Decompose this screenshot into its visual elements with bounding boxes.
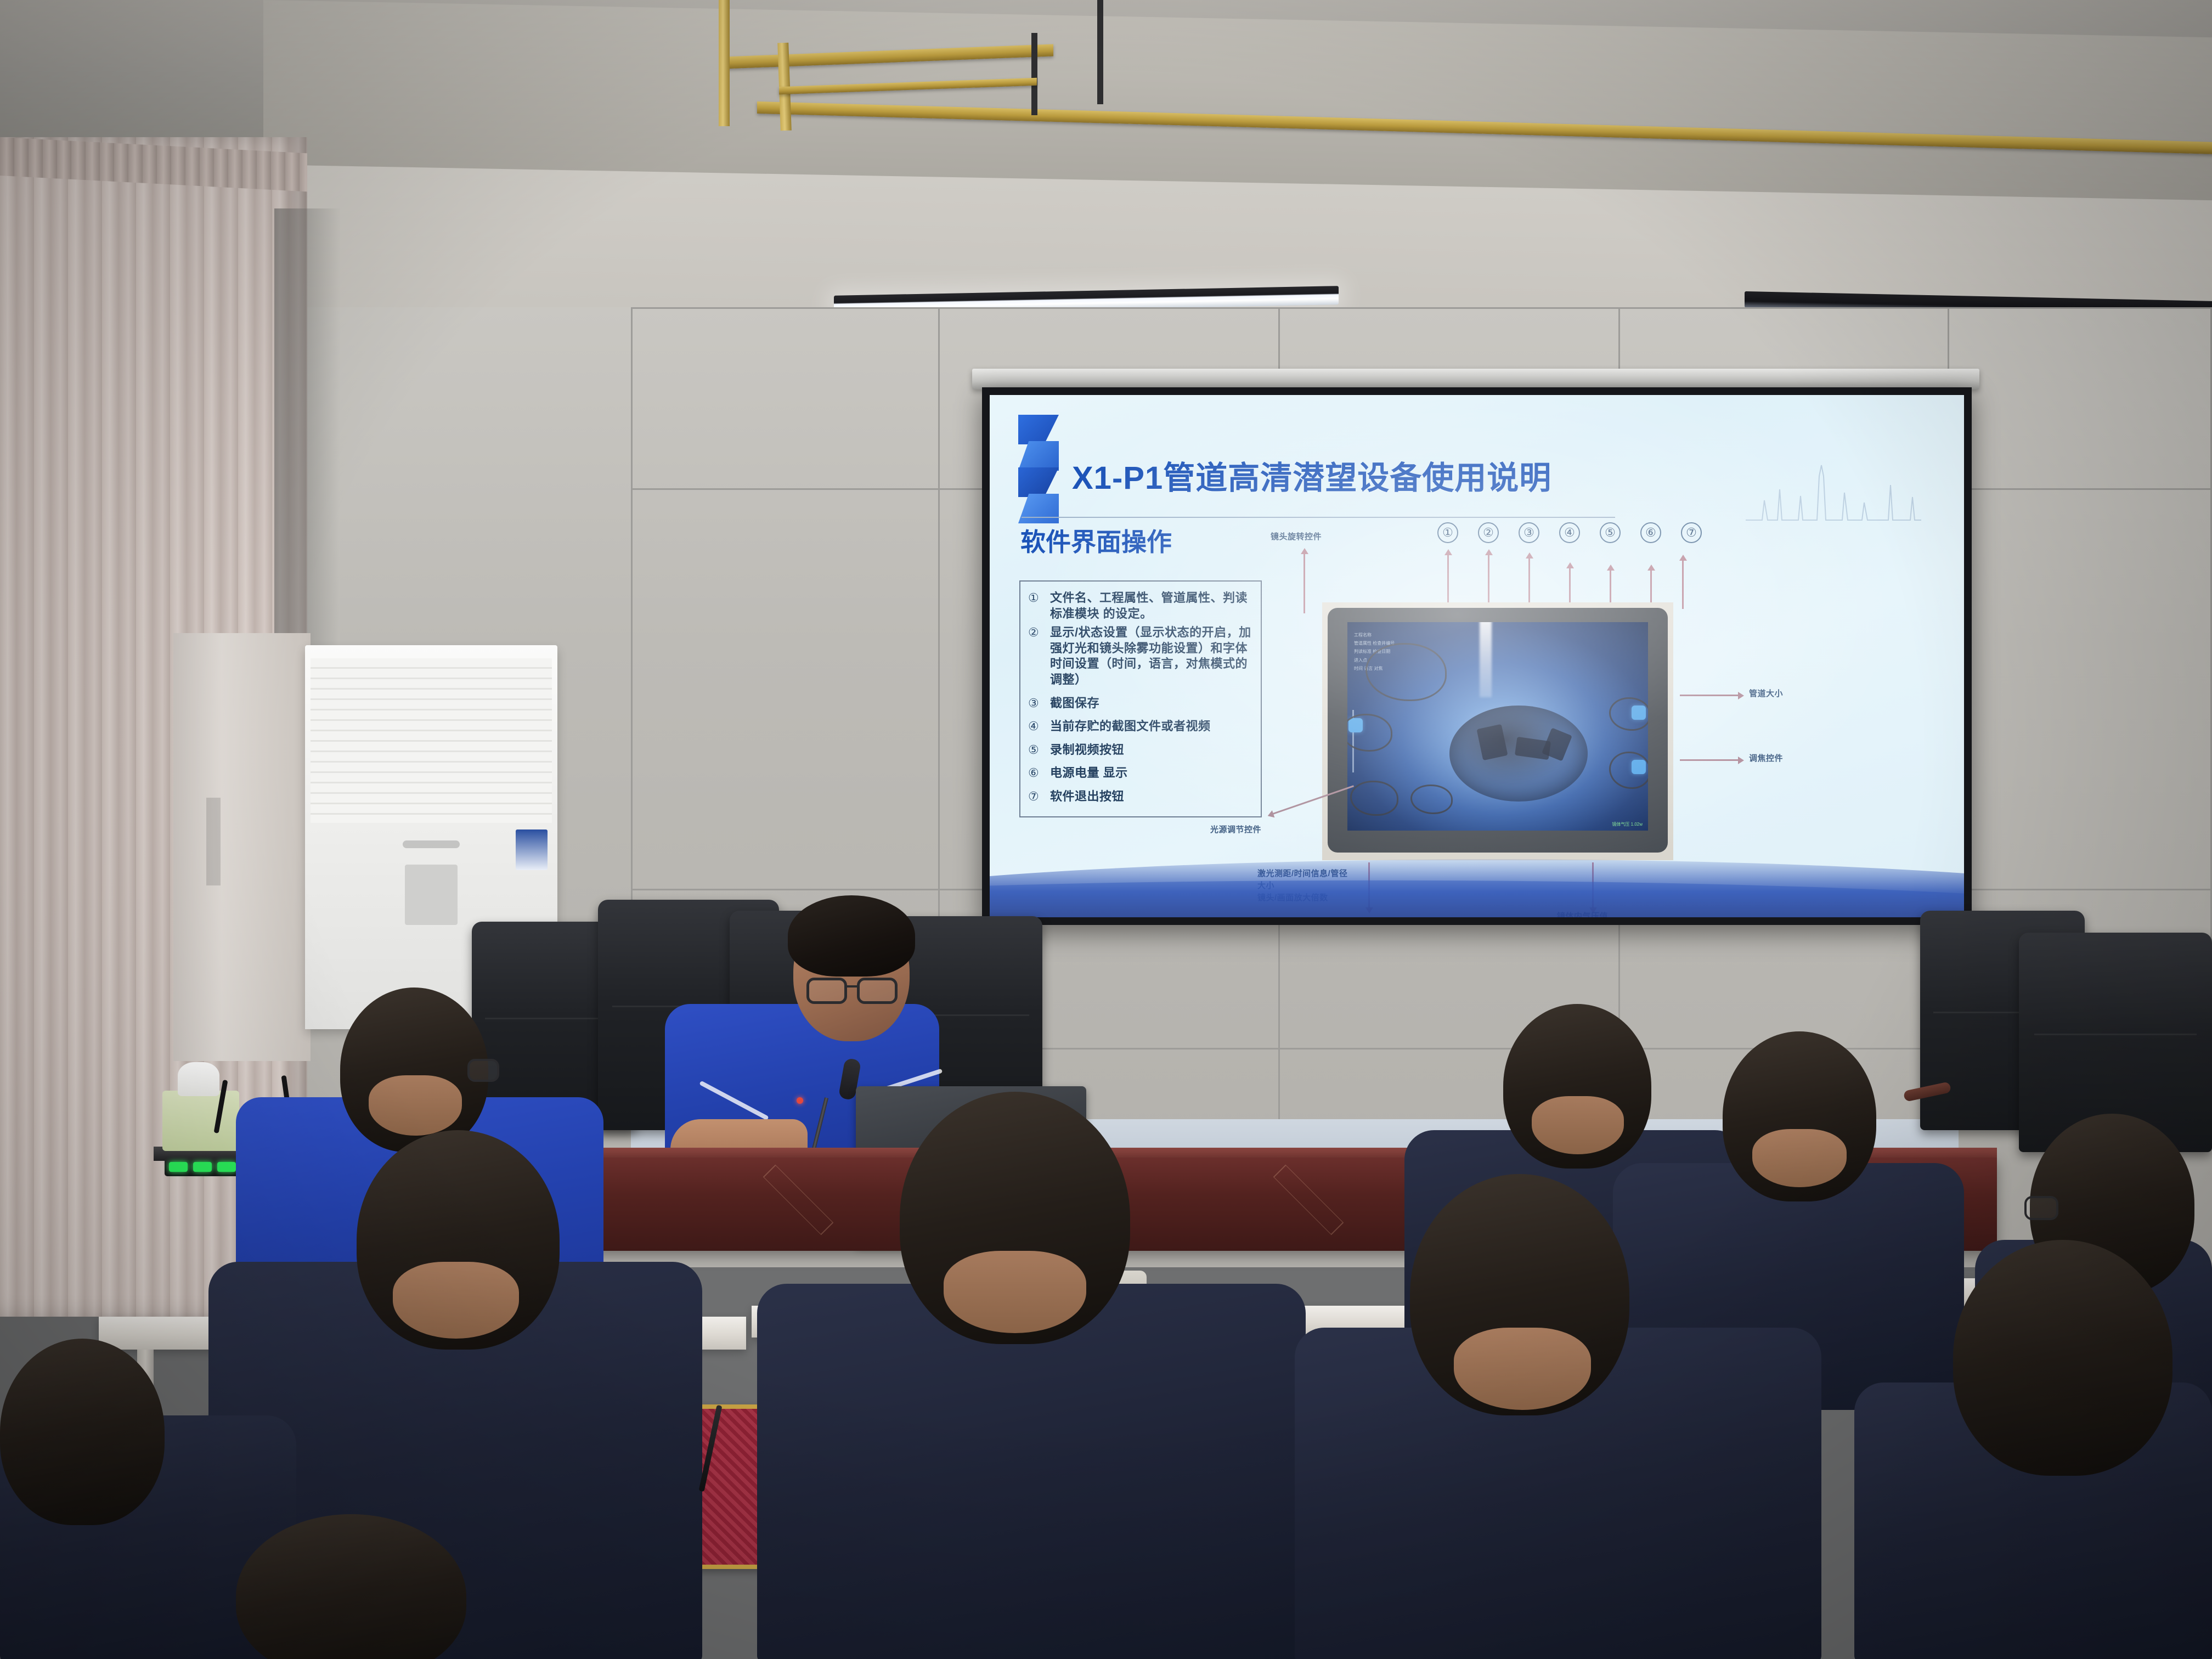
marker-7: ⑦ [1681,522,1702,543]
list-item-number: ① [1028,590,1050,622]
slide-title-divider [1022,517,1615,518]
callout-lens-rotate: 镜头旋转控件 [1271,531,1322,543]
callout-focus-control: 调焦控件 [1749,753,1783,765]
audience-head [1953,1240,2172,1476]
glasses-icon [806,978,847,1004]
list-item: ⑤ 录制视频按钮 [1028,742,1253,758]
glasses-bridge [847,985,858,988]
wall-cabinet [173,633,311,1061]
list-item-text: 文件名、工程属性、管道属性、判读标准模块 的设定。 [1050,590,1253,622]
glasses-icon [2024,1196,2058,1220]
tissue-sheet [178,1062,219,1096]
conference-room-photo: X1-P1管道高清潜望设备使用说明 软件界面操作 ① 文件名、工程属性、管道属性… [0,0,2212,1659]
list-item-text: 当前存贮的截图文件或者视频 [1050,719,1211,735]
ac-energy-label [516,830,548,870]
power-strip-led [217,1162,236,1172]
ceiling-hanger-rod [1031,33,1037,115]
marker-arrow [1447,554,1449,607]
screen-glare [1480,622,1492,697]
handwritten-annotation [1350,781,1398,816]
callout-arrow-pipe-size [1680,695,1739,696]
marker-arrow [1682,560,1684,609]
marker-arrow [1488,554,1489,607]
list-item-text: 软件退出按钮 [1050,789,1124,805]
marker-1: ① [1437,522,1458,543]
presenter-hair [788,895,915,977]
list-item-number: ⑦ [1028,789,1050,805]
list-item: ② 显示/状态设置（显示状态的开启，加强灯光和镜头除雾功能设置）和字体时间设置（… [1028,625,1253,687]
handwritten-annotation [1609,697,1648,731]
glasses-icon [467,1059,499,1082]
device-bezel: 工程名称管道属性 检查井编号判读标准 检查日期进入点时间 语言 对焦 [1328,608,1668,853]
slide-surface: X1-P1管道高清潜望设备使用说明 软件界面操作 ① 文件名、工程属性、管道属性… [990,395,1964,917]
tissue-box[interactable] [162,1091,239,1151]
slide-wave-decoration [990,851,1964,917]
audience-neck [1752,1129,1847,1187]
ac-brand-logo [403,840,460,848]
list-item-text: 录制视频按钮 [1050,742,1124,758]
audience-neck [1532,1096,1624,1154]
list-item: ① 文件名、工程属性、管道属性、判读标准模块 的设定。 [1028,590,1253,622]
list-item-text: 显示/状态设置（显示状态的开启，加强灯光和镜头除雾功能设置）和字体时间设置（时间… [1050,625,1253,687]
handwritten-annotation [1347,714,1392,751]
camera-feed-view: 工程名称管道属性 检查井编号判读标准 检查日期进入点时间 语言 对焦 [1347,622,1648,831]
podium-ornament [763,1165,834,1235]
projector-screen-housing [972,369,1979,390]
slide-subtitle: 软件界面操作 [1020,522,1172,558]
callout-arrow-focus [1680,759,1739,761]
list-item-number: ⑤ [1028,742,1050,758]
handwritten-annotation [1609,752,1648,789]
list-item-text: 电源电量 显示 [1050,765,1128,781]
slide-title: X1-P1管道高清潜望设备使用说明 [1072,452,1551,498]
skyline-graphic [1746,461,1921,521]
list-item-number: ② [1028,625,1050,687]
device-footer-text: 镜体气压 1.02w [1612,821,1643,827]
marker-row: ① ② ③ ④ ⑤ ⑥ ⑦ [1437,522,1702,543]
callout-light-adjust: 光源调节控件 [1210,824,1261,836]
ac-louvers [311,658,552,823]
audience-neck [1454,1328,1591,1410]
marker-5: ⑤ [1600,522,1621,543]
cabinet-label [206,798,221,885]
marker-3: ③ [1519,522,1539,543]
audience-neck [393,1262,519,1339]
ceiling-hanger-rod [1097,0,1103,104]
list-item: ⑦ 软件退出按钮 [1028,789,1253,805]
list-item-number: ④ [1028,719,1050,735]
callout-arrow-lens-rotate [1304,553,1305,613]
glasses-icon [857,978,898,1004]
marker-2: ② [1478,522,1499,543]
brand-logo-icon [1018,415,1059,524]
marker-arrow [1528,557,1530,608]
ac-display-panel[interactable] [405,865,458,925]
list-item: ③ 截图保存 [1028,696,1253,712]
marker-4: ④ [1559,522,1580,543]
list-item-text: 截图保存 [1050,696,1099,712]
callout-pipe-size: 管道大小 [1749,688,1783,700]
list-item-number: ③ [1028,696,1050,712]
list-item: ⑥ 电源电量 显示 [1028,765,1253,781]
microphone-status-led [797,1097,803,1104]
audience-neck [369,1075,462,1136]
podium-ornament [1273,1165,1344,1235]
device-screenshot: 工程名称管道属性 检查井编号判读标准 检查日期进入点时间 语言 对焦 [1322,602,1673,860]
feature-list-box: ① 文件名、工程属性、管道属性、判读标准模块 的设定。 ② 显示/状态设置（显示… [1019,580,1262,817]
handwritten-annotation [1365,643,1447,701]
power-strip-led [193,1162,212,1172]
list-item-number: ⑥ [1028,765,1050,781]
audience-head [0,1339,165,1525]
marker-6: ⑥ [1640,522,1661,543]
audience-neck [944,1251,1086,1333]
list-item: ④ 当前存贮的截图文件或者视频 [1028,719,1253,735]
handwritten-annotation [1410,785,1453,814]
projector-screen: X1-P1管道高清潜望设备使用说明 软件界面操作 ① 文件名、工程属性、管道属性… [982,387,1972,925]
power-strip-led [169,1162,188,1172]
ceiling-conduit-drop [719,0,730,126]
